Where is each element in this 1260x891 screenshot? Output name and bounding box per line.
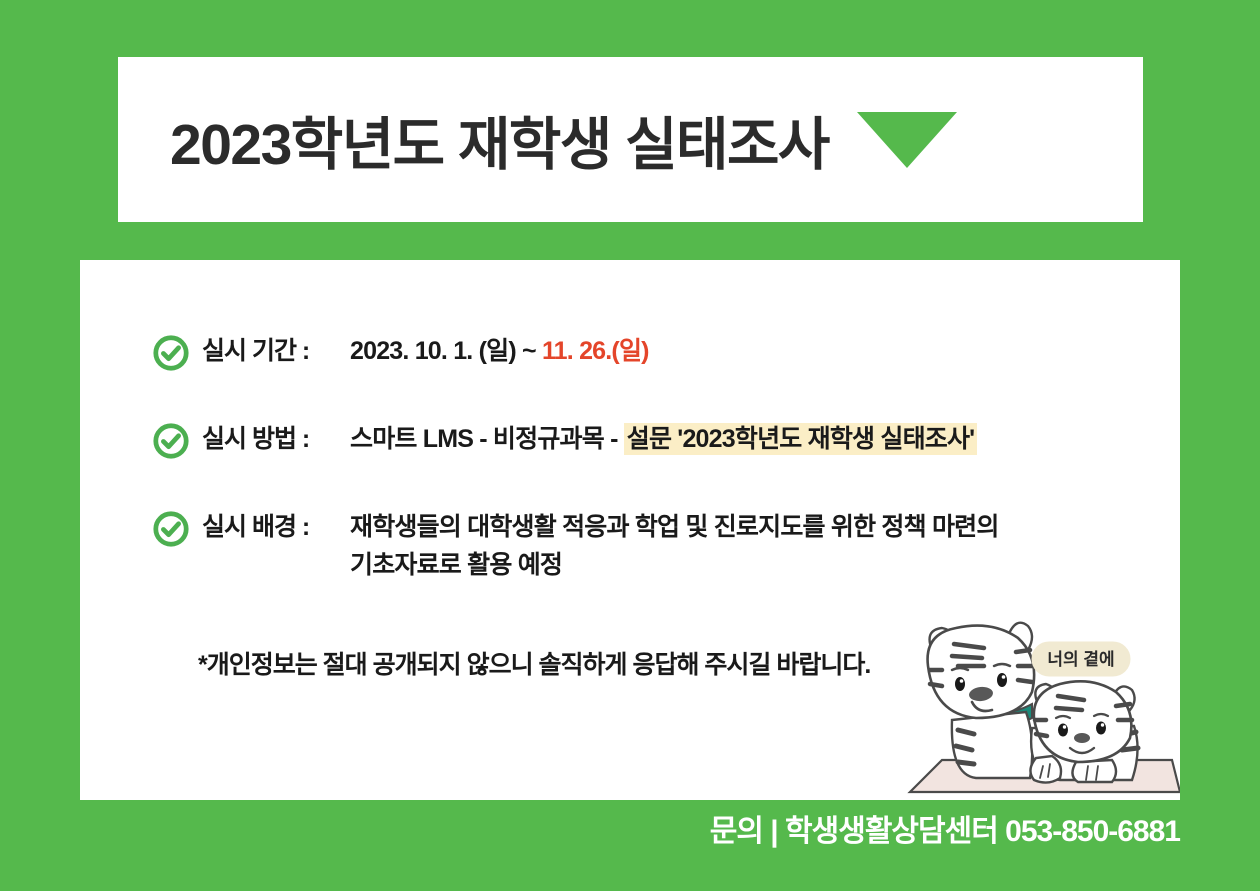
info-row-label: 실시 기간 : [202, 332, 350, 370]
period-start-text: 2023. 10. 1. (일) ~ [350, 337, 542, 365]
triangle-down-icon [857, 112, 957, 168]
privacy-note: *개인정보는 절대 공개되지 않으니 솔직하게 응답해 주시길 바랍니다. [198, 645, 870, 681]
background-line-2: 기초자료로 활용 예정 [350, 546, 999, 584]
check-circle-icon [152, 334, 190, 372]
tiger-mascot: 너의 곁에 [880, 600, 1180, 800]
info-row-method: 실시 방법 : 스마트 LMS - 비정규과목 - 설문 '2023학년도 재학… [152, 420, 1132, 460]
info-row-label: 실시 방법 : [202, 420, 350, 458]
background-line-1: 재학생들의 대학생활 적응과 학업 및 진로지도를 위한 정책 마련의 [350, 513, 999, 541]
period-end-text: 11. 26.(일) [542, 337, 649, 365]
footer-contact: 문의 | 학생생활상담센터 053-850-6881 [0, 806, 1180, 850]
info-row-label: 실시 배경 : [202, 508, 350, 546]
info-rows: 실시 기간 : 2023. 10. 1. (일) ~ 11. 26.(일) 실시… [152, 332, 1132, 584]
page-title: 2023학년도 재학생 실태조사 [170, 99, 829, 181]
check-circle-icon [152, 422, 190, 460]
info-row-value: 스마트 LMS - 비정규과목 - 설문 '2023학년도 재학생 실태조사' [350, 420, 977, 458]
method-path-text: 스마트 LMS - 비정규과목 - [350, 425, 624, 453]
content-card: 실시 기간 : 2023. 10. 1. (일) ~ 11. 26.(일) 실시… [80, 260, 1180, 800]
method-survey-name-highlight: 설문 '2023학년도 재학생 실태조사' [624, 423, 978, 455]
info-row-period: 실시 기간 : 2023. 10. 1. (일) ~ 11. 26.(일) [152, 332, 1132, 372]
info-row-background: 실시 배경 : 재학생들의 대학생활 적응과 학업 및 진로지도를 위한 정책 … [152, 508, 1132, 584]
check-circle-icon [152, 510, 190, 548]
info-row-value: 2023. 10. 1. (일) ~ 11. 26.(일) [350, 332, 649, 370]
title-card: 2023학년도 재학생 실태조사 [118, 57, 1143, 222]
mascot-speech-text: 너의 곁에 [1047, 650, 1114, 669]
info-row-value: 재학생들의 대학생활 적응과 학업 및 진로지도를 위한 정책 마련의 기초자료… [350, 508, 999, 584]
